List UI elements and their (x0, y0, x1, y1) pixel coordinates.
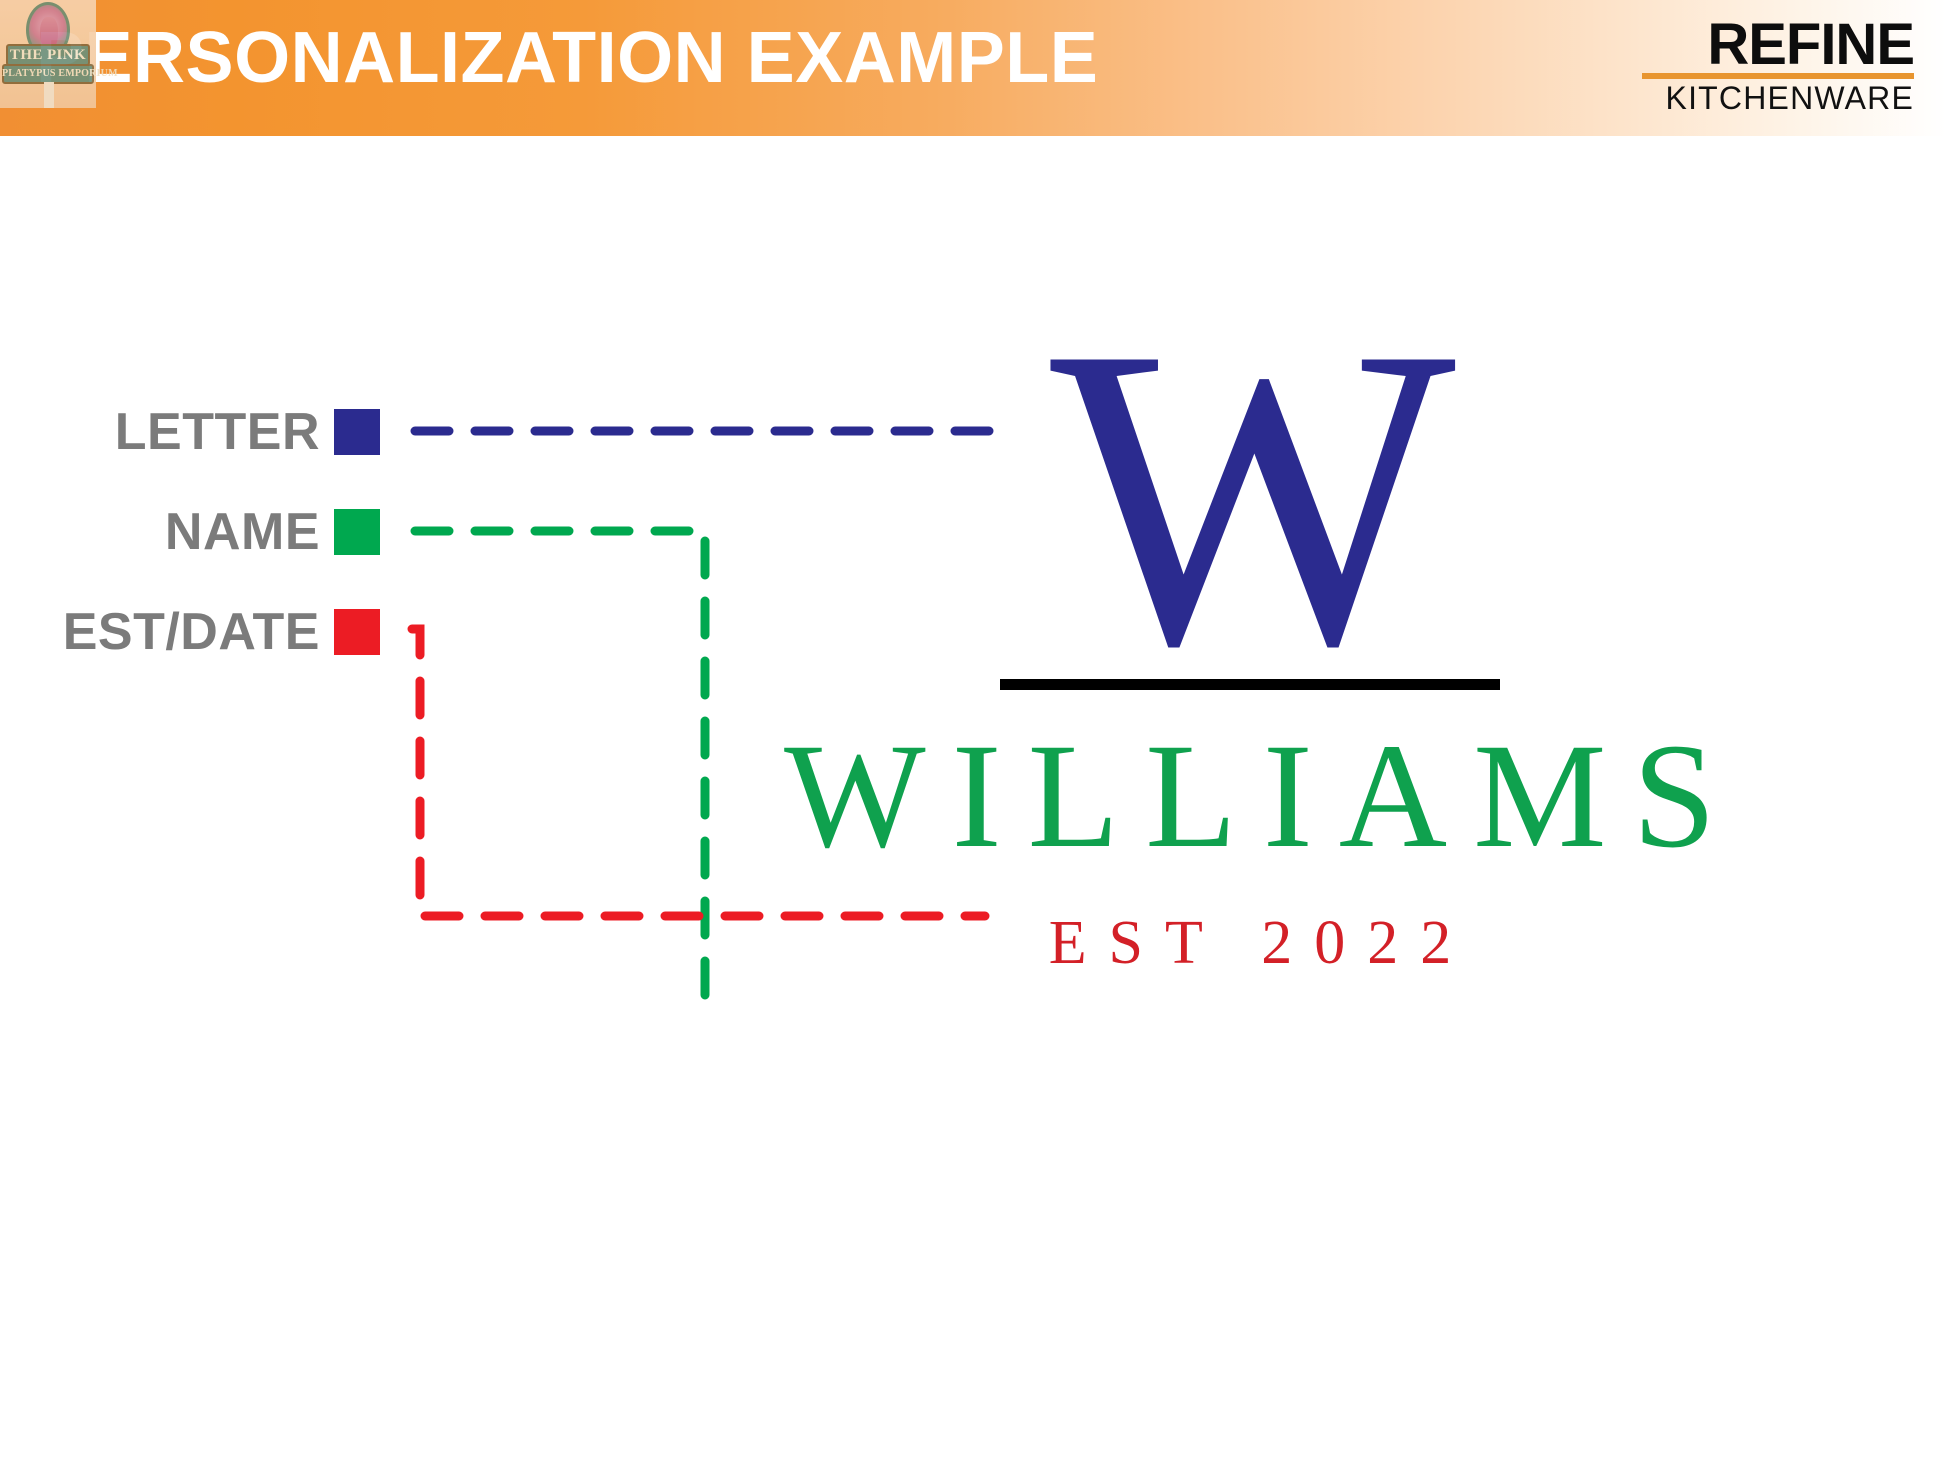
legend-label-name: NAME (165, 506, 320, 558)
pink-platypus-emporium-watermark-logo: THE PINK PLATYPUS EMPORIUM (0, 0, 96, 108)
monogram-est-date: EST 2022 (620, 908, 1880, 979)
est-date-color-swatch (334, 609, 380, 655)
watermark-line-2: PLATYPUS EMPORIUM (2, 65, 94, 83)
name-color-swatch (334, 509, 380, 555)
brand-tagline: KITCHENWARE (1642, 82, 1914, 114)
legend-item-name[interactable]: NAME (70, 506, 380, 558)
slide-canvas: PERSONALIZATION EXAMPLE THE PINK PLATYPU… (0, 0, 1946, 1460)
legend-label-letter: LETTER (115, 406, 320, 458)
page-title: PERSONALIZATION EXAMPLE (36, 22, 1098, 94)
refine-kitchenware-logo: REFINE KITCHENWARE (1642, 18, 1914, 114)
monogram-initial-letter: W (620, 330, 1880, 665)
monogram-last-name: WILLIAMS (620, 718, 1880, 876)
legend-item-letter[interactable]: LETTER (70, 406, 380, 458)
watermark-signpost (44, 82, 54, 108)
legend-item-est-date[interactable]: EST/DATE (70, 606, 380, 658)
letter-color-swatch (334, 409, 380, 455)
monogram-preview: W WILLIAMS EST 2022 (620, 330, 1880, 979)
legend-label-est-date: EST/DATE (63, 606, 320, 658)
brand-name: REFINE (1642, 18, 1914, 71)
watermark-line-1: THE PINK (6, 45, 90, 65)
